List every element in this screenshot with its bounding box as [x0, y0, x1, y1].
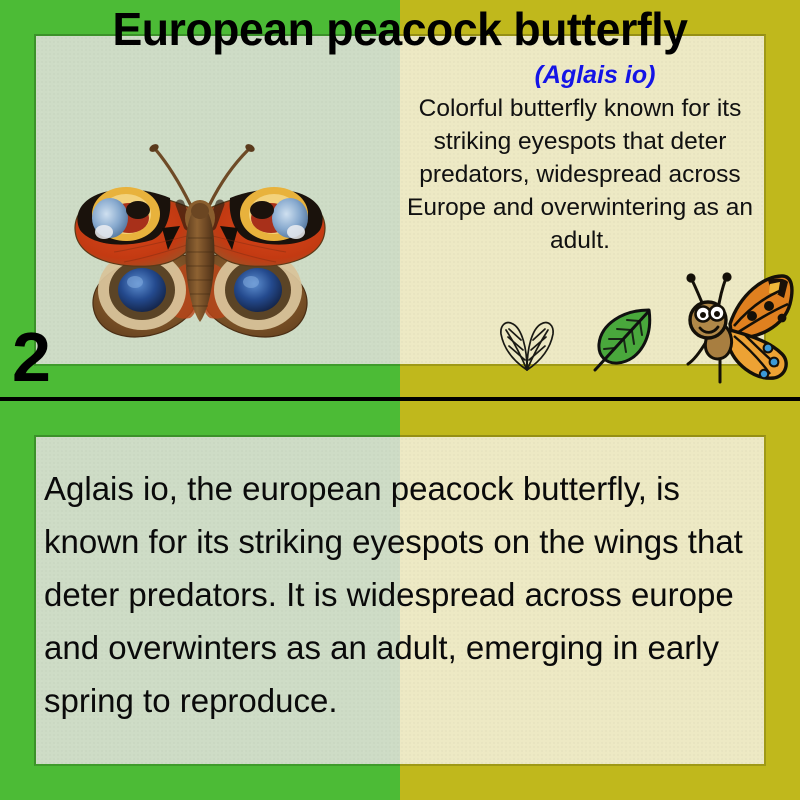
wings-outline-icon — [495, 312, 561, 379]
species-info-card: European peacock butterfly (Aglais io) C… — [0, 0, 800, 800]
page-title: European peacock butterfly — [12, 2, 788, 56]
scientific-name: (Aglais io) — [400, 60, 790, 90]
cartoon-butterfly-icon — [670, 268, 794, 393]
panel-divider — [0, 397, 800, 401]
description-text: Colorful butterfly known for its strikin… — [404, 92, 756, 257]
peacock-butterfly-photo — [30, 108, 370, 338]
leaf-icon — [587, 304, 659, 381]
body-text: Aglais io, the european peacock butterfl… — [44, 462, 760, 727]
card-number-badge: 2 — [12, 322, 51, 392]
decorative-icon-row — [495, 268, 795, 388]
